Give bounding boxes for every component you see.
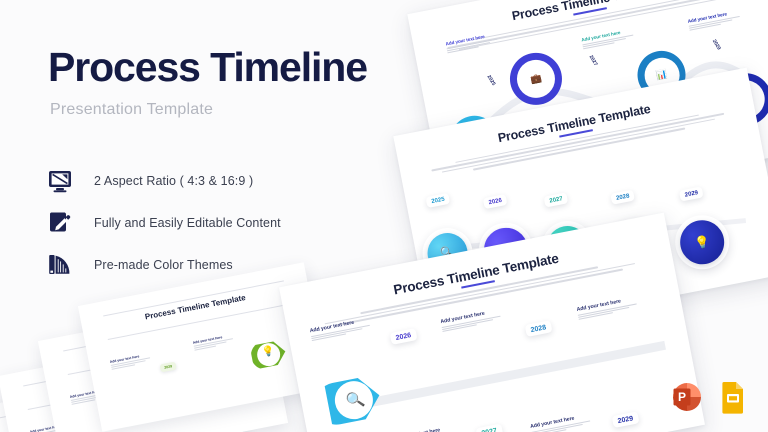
feature-item-label: 2 Aspect Ratio ( 4:3 & 16:9 )	[94, 174, 253, 188]
monitor-icon	[46, 167, 74, 195]
hero-panel: Process Timeline Presentation Template 2…	[0, 0, 400, 432]
year-chip: 2028	[525, 320, 552, 337]
feature-item-label: Pre-made Color Themes	[94, 258, 233, 272]
export-format-logos: P	[670, 380, 750, 414]
feature-item-color-themes: Pre-made Color Themes	[46, 244, 376, 286]
feature-item-editable: Fully and Easily Editable Content	[46, 202, 376, 244]
powerpoint-logo-letter: P	[678, 390, 686, 404]
page-title: Process Timeline	[48, 46, 367, 89]
feature-item-label: Fully and Easily Editable Content	[94, 216, 281, 230]
edit-pencil-icon	[46, 209, 74, 237]
color-swatch-icon	[46, 251, 74, 279]
year-chip: 2029	[612, 411, 639, 428]
briefcase-icon: 💼	[530, 73, 543, 84]
page-subtitle: Presentation Template	[50, 101, 213, 119]
year-chip: 2027	[476, 424, 503, 432]
powerpoint-logo: P	[670, 380, 704, 414]
presentation-icon: 📊	[655, 69, 668, 80]
google-slides-logo	[716, 380, 750, 414]
feature-item-aspect-ratio: 2 Aspect Ratio ( 4:3 & 16:9 )	[46, 160, 376, 202]
idea-icon: 💡	[694, 235, 711, 250]
feature-list: 2 Aspect Ratio ( 4:3 & 16:9 ) Fully and …	[46, 160, 376, 286]
